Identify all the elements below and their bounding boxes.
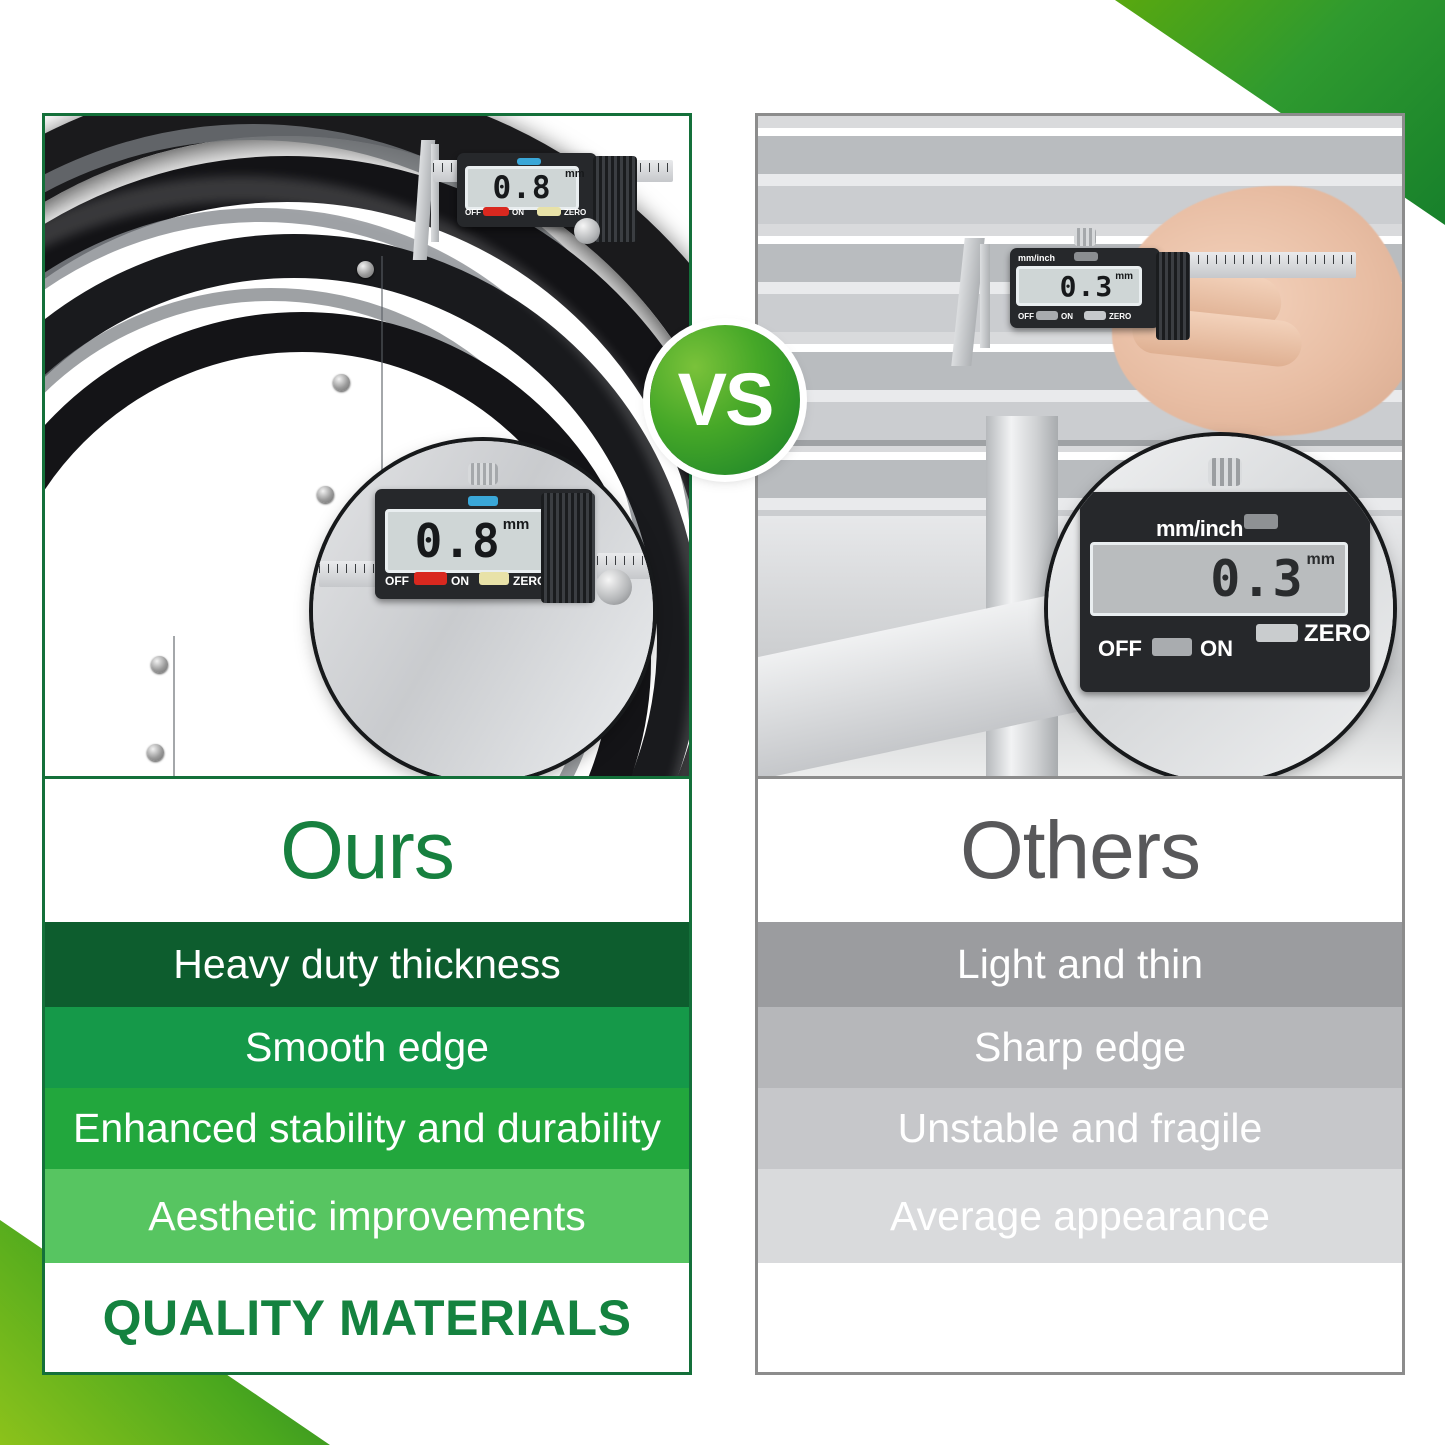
bolt-icon [151,656,168,673]
caliper-unit-label: mm [565,168,585,180]
caliper-jaw-inner [431,144,439,242]
caliper-scale-ticks [597,556,653,565]
ours-feature-row-1: Heavy duty thickness [45,922,689,1007]
caliper-lcd-display: 0.3 mm [1016,266,1142,306]
ours-heading: Ours [45,779,689,922]
inset-mode-label: mm/inch [1156,516,1243,542]
ours-magnified-inset: 90 0.8 mm OFF ON ZERO [313,441,653,779]
caliper-power-switch[interactable] [1036,311,1058,320]
ours-footer-note: QUALITY MATERIALS [45,1263,689,1373]
caliper-off-label: OFF [1018,312,1034,321]
vs-badge: VS [650,325,800,475]
others-feature-list: Light and thin Sharp edge Unstable and f… [758,922,1402,1263]
digital-caliper-device: 0.8 mm OFF ON ZERO [417,136,689,256]
inset-on-label: ON [451,574,469,588]
inset-caliper-lcd-display: 0.8 mm [385,509,559,573]
caliper-mode-button[interactable] [1074,252,1098,261]
panel-seam [173,636,175,776]
inset-caliper-unit: mm [1307,551,1335,569]
others-heading: Others [758,779,1402,922]
others-feature-row-4: Average appearance [758,1169,1402,1263]
caliper-jaw-inner [980,244,990,348]
inset-zero-button[interactable] [1256,624,1298,642]
inset-caliper-unit: mm [503,516,530,533]
bolt-icon [333,374,350,391]
inset-power-switch[interactable] [414,572,447,585]
caliper-reading: 0.3 [1060,270,1114,303]
ours-feature-row-2: Smooth edge [45,1007,689,1088]
ours-feature-list: Heavy duty thickness Smooth edge Enhance… [45,922,689,1263]
inset-zero-button[interactable] [479,572,509,585]
ours-panel: 0.8 mm OFF ON ZERO 90 0.8 mm [42,113,692,1375]
inset-caliper-reading: 0.8 [415,514,501,568]
caliper-mode-label: mm/inch [1018,253,1055,263]
inset-caliper-grip [541,493,595,603]
inset-on-label: ON [1200,636,1233,662]
inset-off-label: OFF [1098,636,1142,662]
caliper-zero-label: ZERO [564,208,586,217]
vs-badge-label: VS [678,363,773,437]
inset-caliper-thumb-wheel[interactable] [596,569,632,605]
digital-caliper-device: mm/inch 0.3 mm OFF ON ZERO [958,226,1358,356]
caliper-zero-button[interactable] [1084,311,1106,320]
caliper-grip [1156,252,1190,340]
caliper-off-label: OFF [465,208,481,217]
others-magnified-inset: mm/inch 0.3 mm OFF ON ZERO [1048,436,1393,779]
bolt-icon [147,744,164,761]
bolt-icon [357,261,374,278]
inset-caliper-blue-button[interactable] [468,496,498,506]
caliper-zero-button[interactable] [537,207,561,216]
caliper-zero-label: ZERO [1109,312,1131,321]
ours-feature-row-3: Enhanced stability and durability [45,1088,689,1169]
caliper-unit-label: mm [1115,271,1133,282]
caliper-thumb-wheel[interactable] [574,218,600,244]
caliper-power-switch[interactable] [483,207,509,216]
caliper-lcd-display: 0.8 [465,166,579,210]
inset-zero-label: ZERO [1304,620,1371,648]
others-feature-row-3: Unstable and fragile [758,1088,1402,1169]
caliper-blue-button[interactable] [517,158,541,165]
caliper-screw-knob[interactable] [1074,228,1096,246]
others-footer-blank [758,1263,1402,1373]
inset-power-switch[interactable] [1152,638,1192,656]
others-panel: mm/inch 0.3 mm OFF ON ZERO mm/inch 0.3 m… [755,113,1405,1375]
inset-caliper-screw-knob[interactable] [468,463,498,485]
inset-mode-button[interactable] [1244,514,1278,529]
others-feature-row-1: Light and thin [758,922,1402,1007]
ours-product-photo: 0.8 mm OFF ON ZERO 90 0.8 mm [45,116,689,779]
inset-off-label: OFF [385,574,409,588]
inset-caliper-lcd-display: 0.3 mm [1090,542,1348,616]
others-feature-row-2: Sharp edge [758,1007,1402,1088]
caliper-on-label: ON [1061,312,1073,321]
inset-caliper-reading: 0.3 [1210,550,1303,608]
inset-caliper-screw-knob[interactable] [1208,458,1242,486]
others-product-photo: mm/inch 0.3 mm OFF ON ZERO mm/inch 0.3 m… [758,116,1402,779]
ours-feature-row-4: Aesthetic improvements [45,1169,689,1263]
caliper-on-label: ON [512,208,524,217]
